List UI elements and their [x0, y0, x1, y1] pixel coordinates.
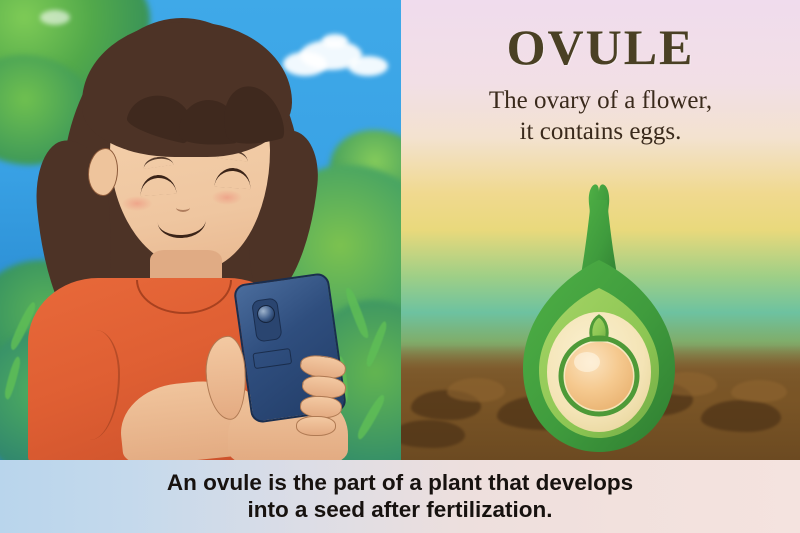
page-title: OVULE	[401, 18, 800, 76]
egg-cell	[565, 342, 633, 410]
subtitle-line-2: it contains eggs.	[401, 117, 800, 148]
left-illustration-panel	[0, 0, 401, 460]
subtitle: The ovary of a flower, it contains eggs.	[401, 86, 800, 147]
soil-clod	[701, 400, 781, 432]
phone-detail-line	[252, 348, 292, 369]
soil-clod	[401, 420, 465, 448]
caption-line-1: An ovule is the part of a plant that dev…	[167, 470, 633, 497]
caption-text: An ovule is the part of a plant that dev…	[139, 470, 661, 523]
finger	[296, 416, 336, 436]
soil-clod	[447, 378, 505, 402]
girl-illustration	[0, 0, 401, 460]
caption-line-2: into a seed after fertilization.	[167, 497, 633, 524]
ovule-diagram	[499, 160, 699, 460]
blush-left	[122, 196, 152, 211]
nose	[176, 203, 190, 212]
egg-cell-highlight	[574, 352, 600, 372]
blush-right	[212, 190, 242, 205]
soil-clod	[731, 380, 787, 402]
subtitle-line-1: The ovary of a flower,	[401, 86, 800, 117]
caption-band: An ovule is the part of a plant that dev…	[0, 460, 800, 533]
vocabulary-card: OVULE The ovary of a flower, it contains…	[0, 0, 800, 533]
